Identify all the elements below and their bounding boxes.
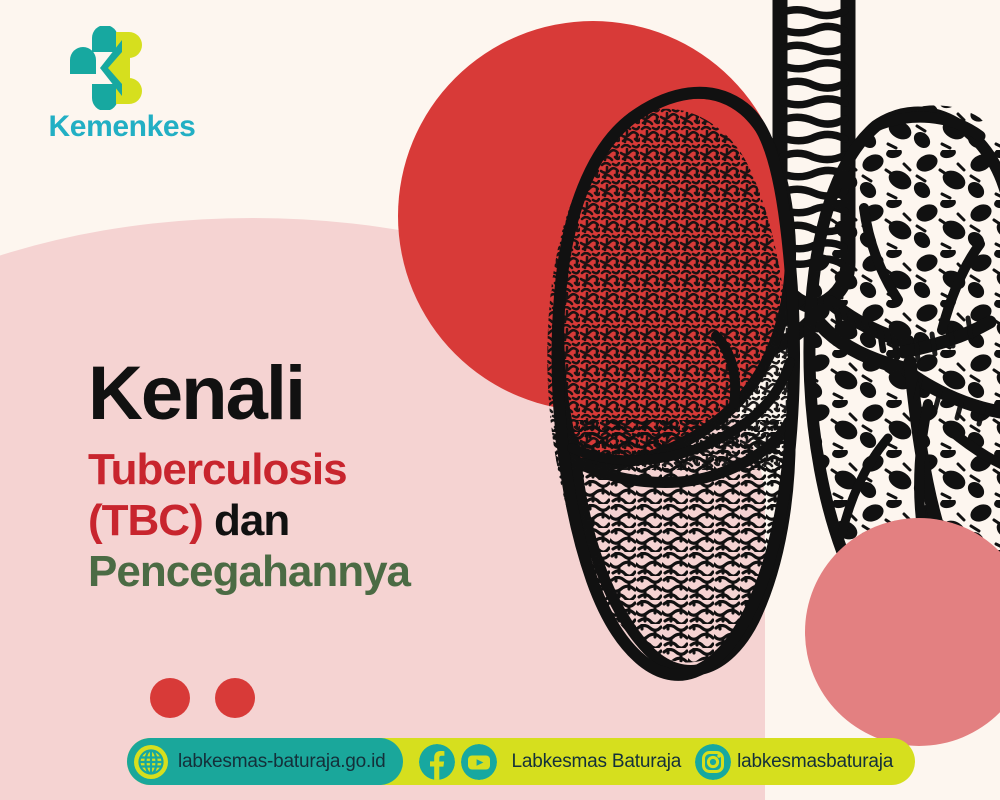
headline-dan: dan [214, 496, 289, 545]
headline-pencegahannya: Pencegahannya [88, 547, 410, 596]
headline-block: Kenali Tuberculosis (TBC) dan Pencegahan… [88, 358, 558, 597]
decorative-dot-1 [150, 678, 190, 718]
facebook-youtube-handle: Labkesmas Baturaja [511, 751, 681, 773]
youtube-icon[interactable] [461, 744, 497, 780]
left-lung [540, 93, 810, 690]
poster-canvas: Kemenkes Kenali Tuberculosis (TBC) dan P… [0, 0, 1000, 800]
facebook-icon[interactable] [419, 744, 455, 780]
kemenkes-wordmark: Kemenkes [22, 110, 222, 144]
globe-icon [133, 744, 169, 780]
headline-tbc: (TBC) [88, 496, 203, 545]
decorative-dot-2 [215, 678, 255, 718]
headline-line-kenali: Kenali [88, 358, 558, 430]
website-url: labkesmas-baturaja.go.id [178, 751, 385, 773]
headline-tuberculosis: Tuberculosis [88, 445, 347, 494]
instagram-icon[interactable] [695, 744, 731, 780]
kemenkes-logo: Kemenkes [22, 26, 222, 136]
kemenkes-logo-mark [64, 26, 148, 110]
instagram-handle: labkesmasbaturaja [737, 751, 893, 773]
website-pill[interactable]: labkesmas-baturaja.go.id [127, 738, 403, 785]
